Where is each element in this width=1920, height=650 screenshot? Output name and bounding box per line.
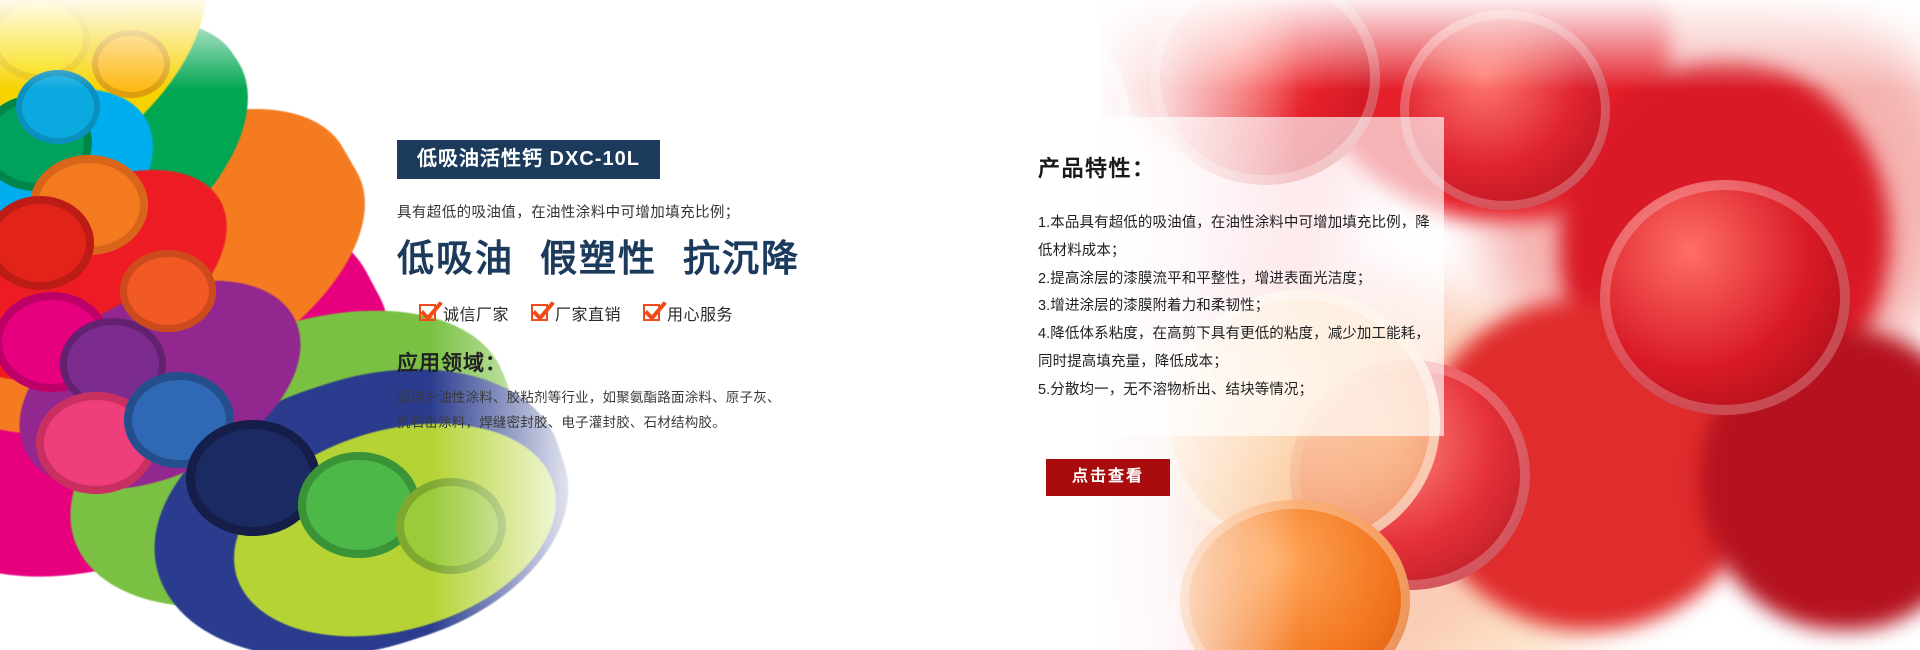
paint-ring-red-3 xyxy=(1600,180,1850,415)
product-title-badge: 低吸油活性钙 DXC-10L xyxy=(397,140,660,179)
feature-list-item: 2.提高涂层的漆膜流平和平整性，增进表面光洁度； xyxy=(1038,266,1433,294)
trust-feature-label: 厂家直销 xyxy=(555,301,621,325)
top-white-fade xyxy=(0,0,1920,90)
feature-list-item: 3.增进涂层的漆膜附着力和柔韧性； xyxy=(1038,293,1433,321)
trust-feature-list: 诚信厂家 厂家直销 用心服务 xyxy=(419,301,817,325)
application-heading: 应用领域： xyxy=(397,347,817,377)
left-content-column: 低吸油活性钙 DXC-10L 具有超低的吸油值，在油性涂料中可增加填充比例； 低… xyxy=(397,140,817,435)
feature-list-item: 4.降低体系粘度，在高剪下具有更低的粘度，减少加工能耗，同时提高填充量，降低成本… xyxy=(1038,321,1433,377)
checkbox-checked-icon xyxy=(643,304,660,321)
trust-feature-item: 用心服务 xyxy=(643,301,733,325)
feature-list-item: 1.本品具有超低的吸油值，在油性涂料中可增加填充比例，降低材料成本； xyxy=(1038,210,1433,266)
headline-keywords: 低吸油假塑性抗沉降 xyxy=(397,238,817,281)
features-panel-list: 1.本品具有超低的吸油值，在油性涂料中可增加填充比例，降低材料成本； 2.提高涂… xyxy=(1038,210,1433,405)
checkbox-checked-icon xyxy=(531,304,548,321)
view-details-button[interactable]: 点击查看 xyxy=(1046,459,1170,496)
feature-list-item: 5.分散均一，无不溶物析出、结块等情况； xyxy=(1038,377,1433,405)
headline-word-1: 低吸油 xyxy=(397,238,514,279)
product-subtitle: 具有超低的吸油值，在油性涂料中可增加填充比例； xyxy=(397,201,817,222)
trust-feature-item: 厂家直销 xyxy=(531,301,621,325)
trust-feature-label: 诚信厂家 xyxy=(443,301,509,325)
trust-feature-item: 诚信厂家 xyxy=(419,301,509,325)
paint-pot-orange-bottom xyxy=(120,250,216,332)
trust-feature-label: 用心服务 xyxy=(667,301,733,325)
headline-word-3: 抗沉降 xyxy=(683,238,800,279)
product-features-panel: 产品特性： 1.本品具有超低的吸油值，在油性涂料中可增加填充比例，降低材料成本；… xyxy=(1004,117,1444,436)
promo-banner: 低吸油活性钙 DXC-10L 具有超低的吸油值，在油性涂料中可增加填充比例； 低… xyxy=(0,0,1920,650)
features-panel-heading: 产品特性： xyxy=(1038,151,1444,183)
checkbox-checked-icon xyxy=(419,304,436,321)
headline-word-2: 假塑性 xyxy=(540,238,657,279)
background-artwork xyxy=(0,0,1920,650)
application-body-text: 适用于油性涂料、胶粘剂等行业，如聚氨酯路面涂料、原子灰、抗石击涂料，焊缝密封胶、… xyxy=(397,386,787,436)
